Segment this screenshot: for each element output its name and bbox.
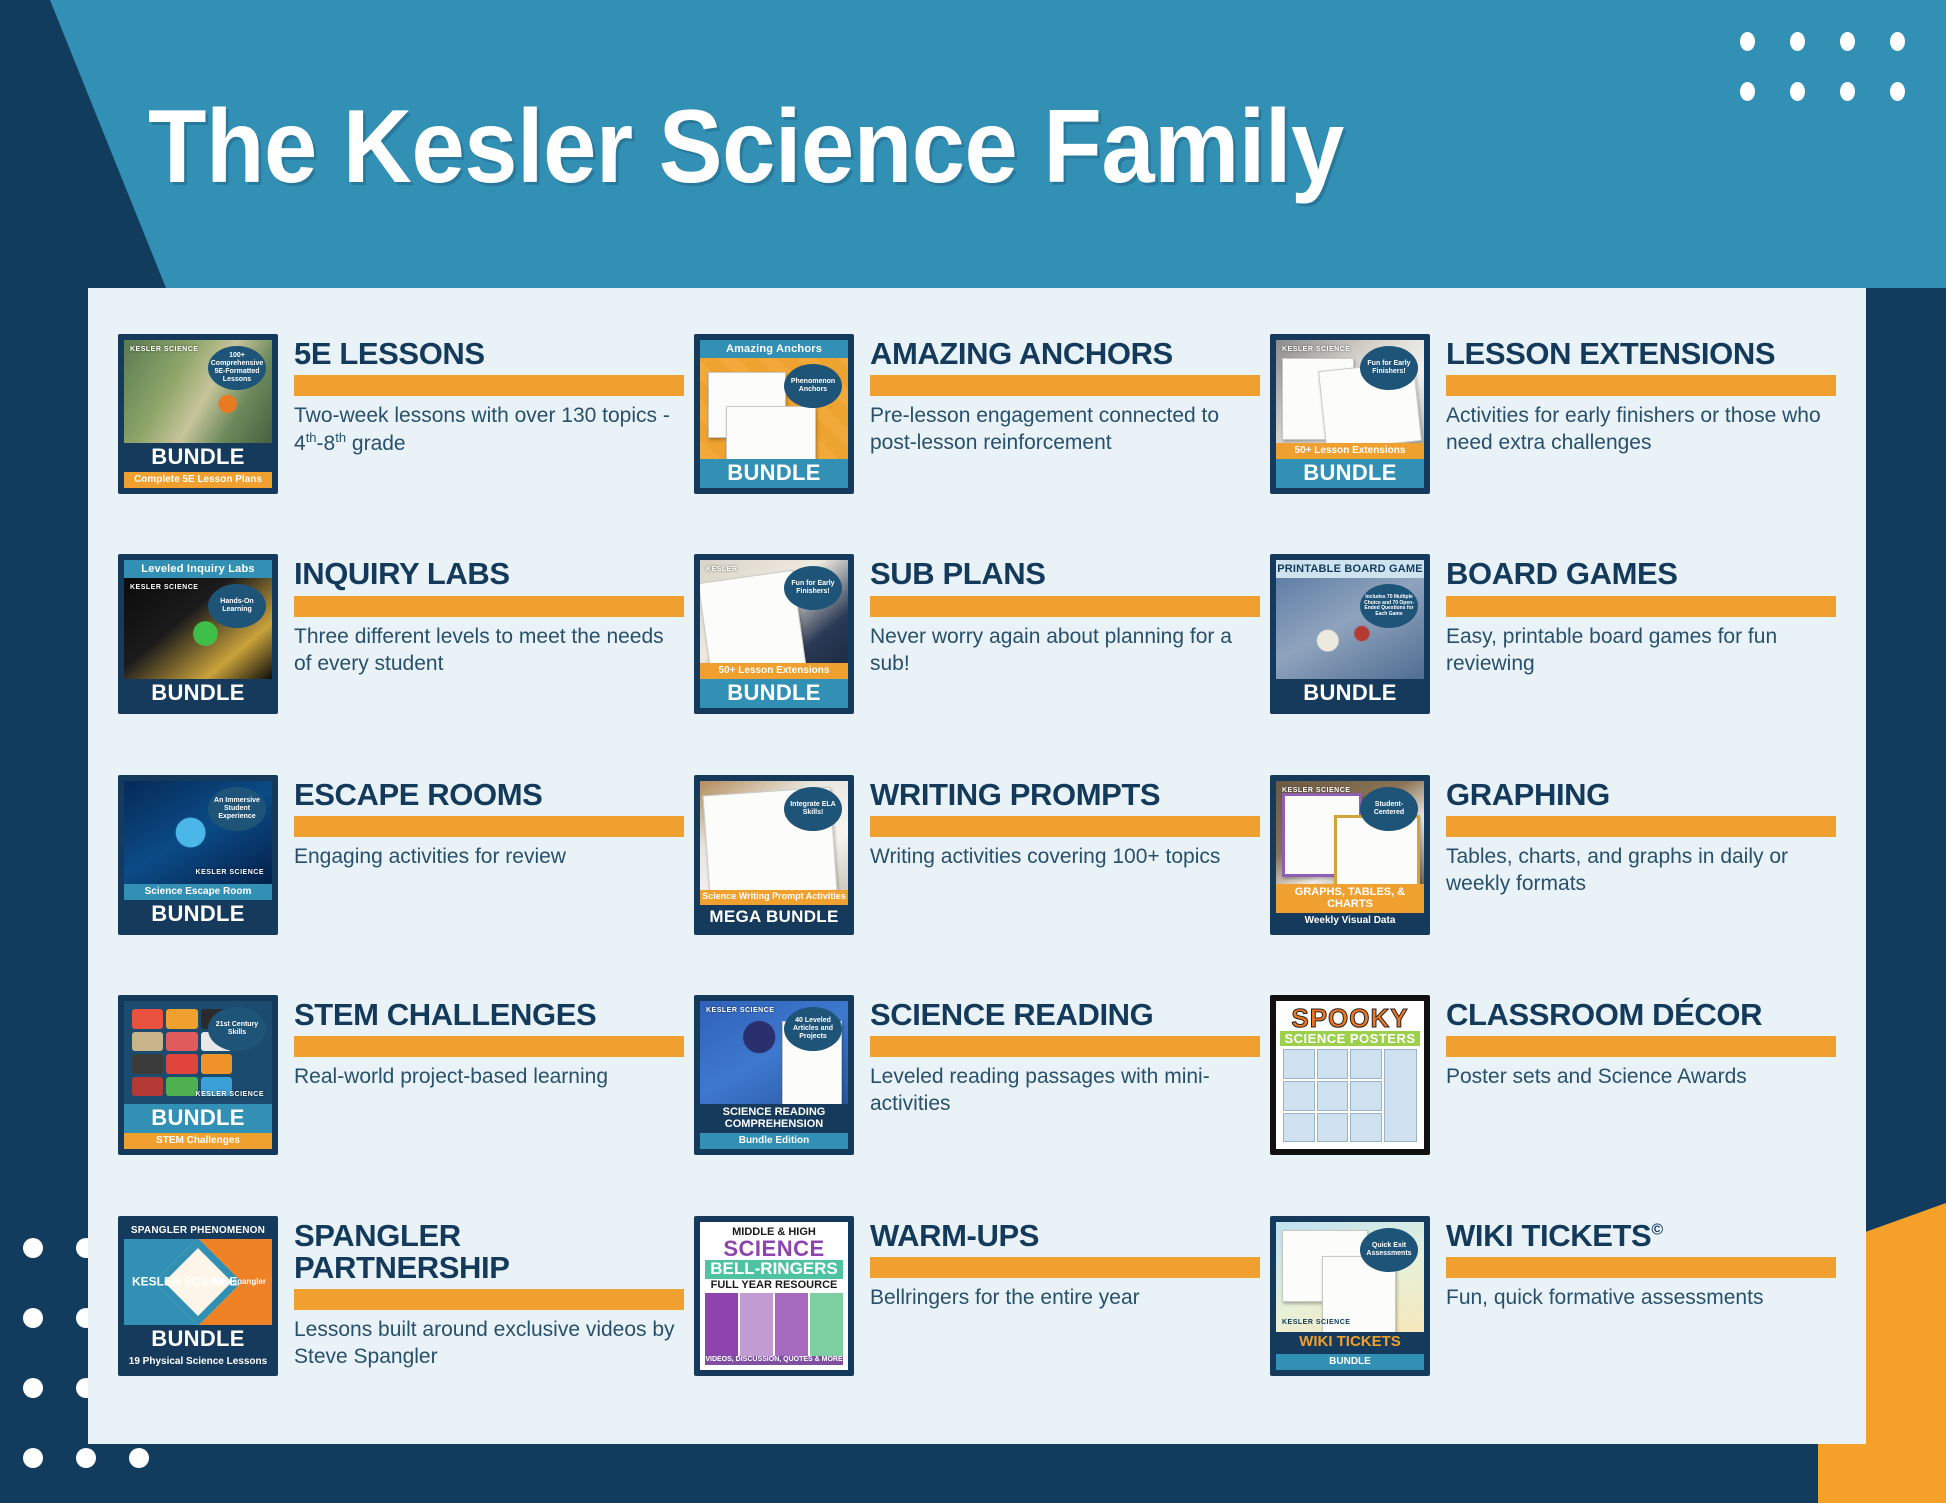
- product-text: INQUIRY LABS Three different levels to m…: [294, 554, 684, 677]
- thumbnail-sub-label: Complete 5E Lesson Plans: [124, 472, 272, 488]
- thumbnail-art: MIDDLE & HIGH SCIENCE BELL-RINGERS FULL …: [700, 1222, 848, 1370]
- product-title-text: WIKI TICKETS: [1446, 1218, 1651, 1253]
- product-description: Lessons built around exclusive videos by…: [294, 1317, 684, 1371]
- product-item-sub-plans[interactable]: KESLER Fun for Early Finishers! 50+ Less…: [694, 542, 1260, 762]
- product-item-board-games[interactable]: PRINTABLE BOARD GAME Includes 70 Multipl…: [1270, 542, 1836, 762]
- thumbnail-art: Includes 70 Multiple Choice and 70 Open-…: [1276, 578, 1424, 679]
- product-text: LESSON EXTENSIONS Activities for early f…: [1446, 334, 1836, 457]
- product-item-amazing-anchors[interactable]: Amazing Anchors Phenomenon Anchors BUNDL…: [694, 322, 1260, 542]
- product-item-lesson-extensions[interactable]: KESLER SCIENCE Fun for Early Finishers! …: [1270, 322, 1836, 542]
- thumbnail-art: KESLER SCIENCE Hands-On Learning: [124, 578, 272, 679]
- kesler-logo-icon: KESLER SCIENCE: [196, 869, 264, 876]
- thumbnail-bundle-label: GRAPHS, TABLES, & CHARTS: [1276, 884, 1424, 913]
- thumbnail-sub-label: 50+ Lesson Extensions: [700, 663, 848, 679]
- thumbnail-art: Phenomenon Anchors: [700, 358, 848, 459]
- thumbnail-sub-label: Science Writing Prompt Activities: [700, 890, 848, 905]
- thumbnail-bundle-label: BUNDLE: [124, 1325, 272, 1354]
- product-description: Activities for early finishers or those …: [1446, 403, 1836, 457]
- poster-thumb-tiles: [1280, 1046, 1420, 1145]
- thumbnail-top-label: Amazing Anchors: [700, 340, 848, 358]
- thumbnail-bundle-label: MEGA BUNDLE: [700, 905, 848, 929]
- poster-title-text: SPOOKY: [1280, 1005, 1420, 1031]
- dot: [23, 1448, 43, 1468]
- product-item-wiki-tickets[interactable]: Quick Exit Assessments KESLER SCIENCE WI…: [1270, 1204, 1836, 1424]
- product-text: SPANGLER PARTNERSHIP Lessons built aroun…: [294, 1216, 684, 1371]
- thumbnail-art: Quick Exit Assessments KESLER SCIENCE: [1276, 1222, 1424, 1333]
- thumbnail-art: KESLER SCIENCE stevespangler: [124, 1239, 272, 1325]
- thumbnail-art: KESLER SCIENCE 40 Leveled Articles and P…: [700, 1001, 848, 1104]
- thumbnail-classroom-decor[interactable]: SPOOKY SCIENCE POSTERS: [1270, 995, 1430, 1155]
- thumbnail-sub-label: BUNDLE: [1276, 1354, 1424, 1370]
- dot: [1740, 32, 1755, 51]
- product-title: SUB PLANS: [870, 558, 1260, 590]
- orange-rule: [870, 1257, 1260, 1278]
- product-text: STEM CHALLENGES Real-world project-based…: [294, 995, 684, 1091]
- orange-rule: [1446, 1257, 1836, 1278]
- product-item-5e-lessons[interactable]: KESLER SCIENCE 100+ Comprehensive 5E-For…: [118, 322, 684, 542]
- dot: [76, 1448, 96, 1468]
- thumbnail-badge: Includes 70 Multiple Choice and 70 Open-…: [1360, 584, 1418, 628]
- thumbnail-badge: 100+ Comprehensive 5E-Formatted Lessons: [208, 346, 266, 390]
- poster-preview: SPOOKY SCIENCE POSTERS: [1280, 1005, 1420, 1145]
- thumbnail-art: 21st Century Skills KESLER SCIENCE: [124, 1001, 272, 1104]
- thumbnail-sub-label: 19 Physical Science Lessons: [124, 1354, 272, 1370]
- thumbnail-bundle-label: BUNDLE: [124, 1104, 272, 1133]
- kesler-logo-icon: KESLER SCIENCE: [130, 346, 198, 353]
- thumbnail-5e-lessons[interactable]: KESLER SCIENCE 100+ Comprehensive 5E-For…: [118, 334, 278, 494]
- product-item-science-reading[interactable]: KESLER SCIENCE 40 Leveled Articles and P…: [694, 983, 1260, 1203]
- orange-rule: [870, 816, 1260, 837]
- thumbnail-bundle-label: BUNDLE: [1276, 459, 1424, 488]
- thumbnail-art: An Immersive Student Experience KESLER S…: [124, 781, 272, 884]
- orange-rule: [1446, 596, 1836, 617]
- thumbnail-art: KESLER SCIENCE 100+ Comprehensive 5E-For…: [124, 340, 272, 443]
- product-text: 5E LESSONS Two-week lessons with over 13…: [294, 334, 684, 458]
- kesler-logo-icon: KESLER SCIENCE: [1282, 1319, 1350, 1326]
- thumbnail-badge: Phenomenon Anchors: [784, 364, 842, 408]
- kesler-logo-icon: KESLER SCIENCE: [130, 584, 198, 591]
- thumbnail-badge: Hands-On Learning: [208, 584, 266, 628]
- dot: [23, 1378, 43, 1398]
- kesler-logo-icon: KESLER SCIENCE: [196, 1091, 264, 1098]
- cover-footer: VIDEOS, DISCUSSION, QUOTES & MORE: [705, 1356, 843, 1364]
- product-title: WRITING PROMPTS: [870, 779, 1260, 811]
- dot: [1790, 82, 1805, 101]
- product-title: WARM-UPS: [870, 1220, 1260, 1252]
- dot: [1740, 82, 1755, 101]
- product-title: SCIENCE READING: [870, 999, 1260, 1031]
- product-text: BOARD GAMES Easy, printable board games …: [1446, 554, 1836, 677]
- thumbnail-art: Integrate ELA Skills!: [700, 781, 848, 890]
- thumbnail-badge: Student-Centered: [1360, 787, 1418, 831]
- orange-rule: [294, 375, 684, 396]
- thumbnail-stem-challenges[interactable]: 21st Century Skills KESLER SCIENCE BUNDL…: [118, 995, 278, 1155]
- page-title: The Kesler Science Family: [148, 88, 1344, 207]
- copyright-icon: ©: [1651, 1221, 1662, 1238]
- product-item-classroom-decor[interactable]: SPOOKY SCIENCE POSTERS CLA: [1270, 983, 1836, 1203]
- product-text: SUB PLANS Never worry again about planni…: [870, 554, 1260, 677]
- thumbnail-bundle-label: BUNDLE: [124, 443, 272, 472]
- product-text: WARM-UPS Bellringers for the entire year: [870, 1216, 1260, 1312]
- thumbnail-bundle-label: BUNDLE: [124, 900, 272, 929]
- dot: [1790, 32, 1805, 51]
- thumbnail-sub-label: Bundle Edition: [700, 1133, 848, 1149]
- thumbnail-art: SPOOKY SCIENCE POSTERS: [1276, 1001, 1424, 1149]
- product-title: CLASSROOM DÉCOR: [1446, 999, 1836, 1031]
- product-title: GRAPHING: [1446, 779, 1836, 811]
- product-text: CLASSROOM DÉCOR Poster sets and Science …: [1446, 995, 1836, 1091]
- thumbnail-warm-ups[interactable]: MIDDLE & HIGH SCIENCE BELL-RINGERS FULL …: [694, 1216, 854, 1376]
- orange-rule: [870, 1036, 1260, 1057]
- thumbnail-bundle-label: BUNDLE: [700, 459, 848, 488]
- poster-root: The Kesler Science Family KESLER SCIENCE…: [0, 0, 1946, 1503]
- product-grid: KESLER SCIENCE 100+ Comprehensive 5E-For…: [118, 322, 1836, 1424]
- product-text: GRAPHING Tables, charts, and graphs in d…: [1446, 775, 1836, 898]
- thumbnail-inquiry-labs[interactable]: Leveled Inquiry Labs KESLER SCIENCE Hand…: [118, 554, 278, 714]
- thumbnail-badge: 21st Century Skills: [208, 1007, 266, 1051]
- thumbnail-escape-rooms[interactable]: An Immersive Student Experience KESLER S…: [118, 775, 278, 935]
- product-title: ESCAPE ROOMS: [294, 779, 684, 811]
- thumbnail-amazing-anchors[interactable]: Amazing Anchors Phenomenon Anchors BUNDL…: [694, 334, 854, 494]
- thumbnail-bundle-label: SCIENCE READING COMPREHENSION: [700, 1104, 848, 1133]
- thumbnail-sub-label: Science Escape Room: [124, 884, 272, 900]
- product-item-writing-prompts[interactable]: Integrate ELA Skills! Science Writing Pr…: [694, 763, 1260, 983]
- orange-rule: [870, 375, 1260, 396]
- product-description: Engaging activities for review: [294, 844, 684, 871]
- product-description: Poster sets and Science Awards: [1446, 1064, 1836, 1091]
- thumbnail-top-label: Leveled Inquiry Labs: [124, 560, 272, 578]
- product-title: LESSON EXTENSIONS: [1446, 338, 1836, 370]
- orange-rule: [1446, 1036, 1836, 1057]
- product-description: Pre-lesson engagement connected to post-…: [870, 403, 1260, 457]
- thumbnail-writing-prompts[interactable]: Integrate ELA Skills! Science Writing Pr…: [694, 775, 854, 935]
- thumbnail-lesson-extensions[interactable]: KESLER SCIENCE Fun for Early Finishers! …: [1270, 334, 1430, 494]
- thumbnail-graphing[interactable]: KESLER SCIENCE Student-Centered GRAPHS, …: [1270, 775, 1430, 935]
- orange-rule: [294, 816, 684, 837]
- product-text: ESCAPE ROOMS Engaging activities for rev…: [294, 775, 684, 871]
- thumbnail-art: KESLER Fun for Early Finishers!: [700, 560, 848, 663]
- product-text: AMAZING ANCHORS Pre-lesson engagement co…: [870, 334, 1260, 457]
- product-text: WRITING PROMPTS Writing activities cover…: [870, 775, 1260, 871]
- thumbnail-sub-plans[interactable]: KESLER Fun for Early Finishers! 50+ Less…: [694, 554, 854, 714]
- top-right-dot-pattern: [1722, 16, 1922, 116]
- product-description: Tables, charts, and graphs in daily or w…: [1446, 844, 1836, 898]
- product-description: Three different levels to meet the needs…: [294, 624, 684, 678]
- thumbnail-bundle-label: WIKI TICKETS: [1276, 1332, 1424, 1354]
- product-description: Never worry again about planning for a s…: [870, 624, 1260, 678]
- orange-rule: [294, 596, 684, 617]
- thumbnail-badge: Fun for Early Finishers!: [1360, 346, 1418, 390]
- thumbnail-top-label: SPANGLER PHENOMENON: [124, 1222, 272, 1239]
- orange-rule: [294, 1036, 684, 1057]
- product-title: BOARD GAMES: [1446, 558, 1836, 590]
- product-description: Two-week lessons with over 130 topics - …: [294, 403, 684, 458]
- product-text: WIKI TICKETS© Fun, quick formative asses…: [1446, 1216, 1836, 1312]
- thumbnail-sub-label: 50+ Lesson Extensions: [1276, 443, 1424, 459]
- thumbnail-art: KESLER SCIENCE Student-Centered: [1276, 781, 1424, 884]
- thumbnail-badge: Integrate ELA Skills!: [784, 787, 842, 831]
- thumbnail-spangler-partnership[interactable]: SPANGLER PHENOMENON KESLER SCIENCE steve…: [118, 1216, 278, 1376]
- product-title: STEM CHALLENGES: [294, 999, 684, 1031]
- product-description: Leveled reading passages with mini-activ…: [870, 1064, 1260, 1118]
- thumbnail-sub-label: Weekly Visual Data: [1276, 913, 1424, 929]
- orange-rule: [1446, 375, 1836, 396]
- orange-rule: [870, 596, 1260, 617]
- content-card: KESLER SCIENCE 100+ Comprehensive 5E-For…: [88, 288, 1866, 1444]
- dot: [1840, 82, 1855, 101]
- cover-line-4: FULL YEAR RESOURCE: [705, 1279, 843, 1291]
- product-item-stem-challenges[interactable]: 21st Century Skills KESLER SCIENCE BUNDL…: [118, 983, 684, 1203]
- thumbnail-bundle-label: BUNDLE: [1276, 679, 1424, 708]
- product-description: Writing activities covering 100+ topics: [870, 844, 1260, 871]
- product-item-graphing[interactable]: KESLER SCIENCE Student-Centered GRAPHS, …: [1270, 763, 1836, 983]
- dot: [1890, 82, 1905, 101]
- product-title: INQUIRY LABS: [294, 558, 684, 590]
- product-description: Fun, quick formative assessments: [1446, 1285, 1836, 1312]
- thumbnail-art: KESLER SCIENCE Fun for Early Finishers!: [1276, 340, 1424, 443]
- product-title: 5E LESSONS: [294, 338, 684, 370]
- dot: [129, 1448, 149, 1468]
- thumbnail-sub-label: STEM Challenges: [124, 1133, 272, 1149]
- orange-rule: [1446, 816, 1836, 837]
- thumbnail-science-reading[interactable]: KESLER SCIENCE 40 Leveled Articles and P…: [694, 995, 854, 1155]
- product-item-spangler-partnership[interactable]: SPANGLER PHENOMENON KESLER SCIENCE steve…: [118, 1204, 684, 1424]
- thumbnail-badge: An Immersive Student Experience: [208, 787, 266, 831]
- thumbnail-bundle-label: BUNDLE: [700, 679, 848, 708]
- cover-line-3: BELL-RINGERS: [705, 1260, 843, 1279]
- poster-subtitle-text: SCIENCE POSTERS: [1280, 1031, 1420, 1046]
- product-title: SPANGLER PARTNERSHIP: [294, 1220, 684, 1284]
- thumbnail-badge: 40 Leveled Articles and Projects: [784, 1007, 842, 1051]
- dot: [1890, 32, 1905, 51]
- dot: [23, 1238, 43, 1258]
- thumbnail-badge: Quick Exit Assessments: [1360, 1228, 1418, 1272]
- orange-rule: [294, 1289, 684, 1310]
- product-text: SCIENCE READING Leveled reading passages…: [870, 995, 1260, 1118]
- product-description: Easy, printable board games for fun revi…: [1446, 624, 1836, 678]
- dot: [1840, 32, 1855, 51]
- bellringer-cover-preview: MIDDLE & HIGH SCIENCE BELL-RINGERS FULL …: [703, 1225, 845, 1367]
- product-description: Bellringers for the entire year: [870, 1285, 1260, 1312]
- thumbnail-board-games[interactable]: PRINTABLE BOARD GAME Includes 70 Multipl…: [1270, 554, 1430, 714]
- thumbnail-bundle-label: BUNDLE: [124, 679, 272, 708]
- cover-line-2: SCIENCE: [705, 1238, 843, 1260]
- product-item-inquiry-labs[interactable]: Leveled Inquiry Labs KESLER SCIENCE Hand…: [118, 542, 684, 762]
- product-title: WIKI TICKETS©: [1446, 1220, 1836, 1252]
- spangler-logo-icon: stevespangler: [212, 1277, 266, 1285]
- thumbnail-top-label: PRINTABLE BOARD GAME: [1276, 560, 1424, 578]
- product-title: AMAZING ANCHORS: [870, 338, 1260, 370]
- product-description: Real-world project-based learning: [294, 1064, 684, 1091]
- dot: [23, 1308, 43, 1328]
- product-item-escape-rooms[interactable]: An Immersive Student Experience KESLER S…: [118, 763, 684, 983]
- cover-thumb-tiles: [705, 1291, 843, 1356]
- thumbnail-wiki-tickets[interactable]: Quick Exit Assessments KESLER SCIENCE WI…: [1270, 1216, 1430, 1376]
- product-item-warm-ups[interactable]: MIDDLE & HIGH SCIENCE BELL-RINGERS FULL …: [694, 1204, 1260, 1424]
